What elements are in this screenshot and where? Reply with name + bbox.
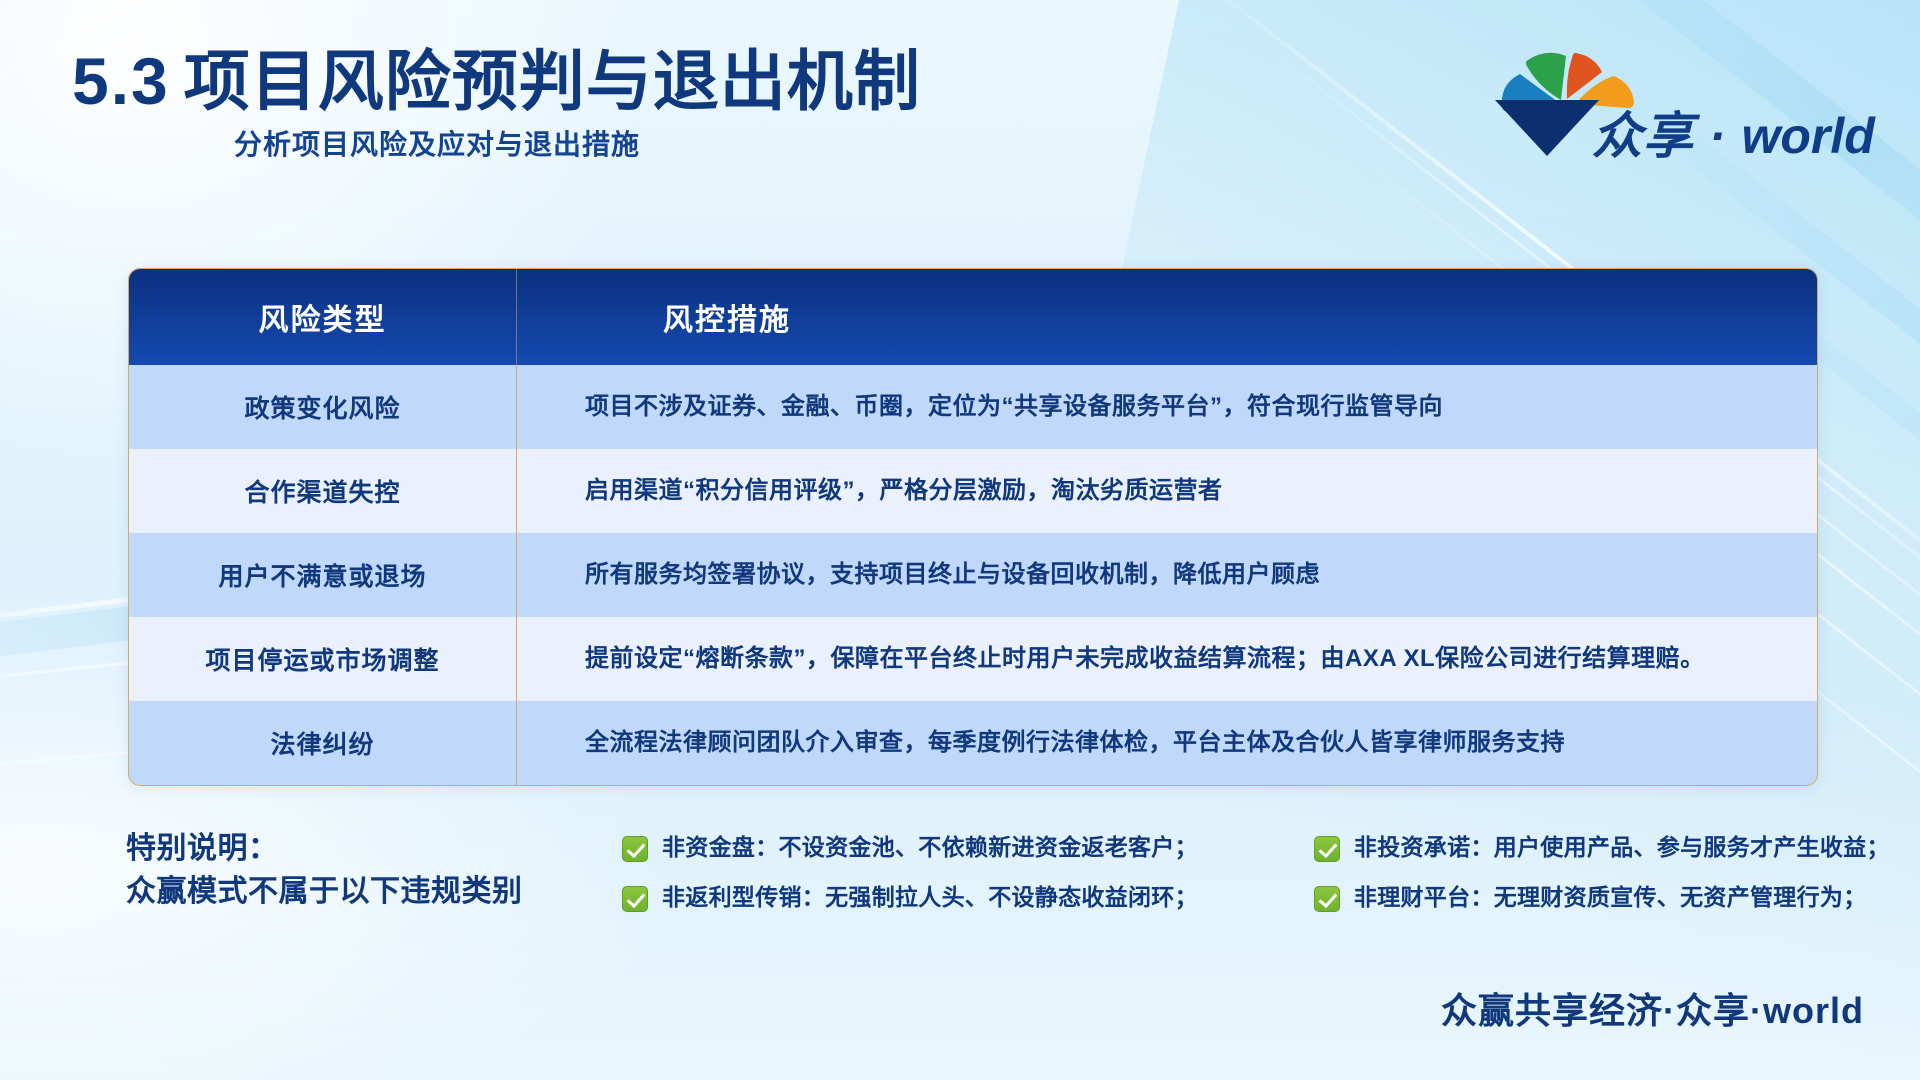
table-row: 政策变化风险 项目不涉及证券、金融、币圈，定位为“共享设备服务平台”，符合现行监… [129, 365, 1817, 449]
risk-table: 风险类型 风控措施 政策变化风险 项目不涉及证券、金融、币圈，定位为“共享设备服… [128, 268, 1818, 786]
list-item-label: 非资金盘：不设资金池、不依赖新进资金返老客户； [662, 834, 1198, 862]
cell-risk-type: 法律纠纷 [129, 701, 517, 785]
cell-risk-type: 合作渠道失控 [129, 449, 517, 533]
cell-control-measure: 提前设定“熔断条款”，保障在平台终止时用户未完成收益结算流程；由AXA XL保险… [517, 617, 1817, 701]
table-row: 法律纠纷 全流程法律顾问团队介入审查，每季度例行法律体检，平台主体及合伙人皆享律… [129, 701, 1817, 785]
table-row: 项目停运或市场调整 提前设定“熔断条款”，保障在平台终止时用户未完成收益结算流程… [129, 617, 1817, 701]
section-number: 5.3 [72, 44, 170, 118]
logo-brand-en: world [1741, 108, 1874, 164]
slide-header: 5.3项目风险预判与退出机制 分析项目风险及应对与退出措施 众享 · world [0, 0, 1920, 200]
table-row: 合作渠道失控 启用渠道“积分信用评级”，严格分层激励，淘汰劣质运营者 [129, 449, 1817, 533]
special-note-label-line1: 特别说明： [126, 828, 646, 871]
page-title: 5.3项目风险预判与退出机制 [72, 46, 921, 117]
compliance-column-left: 非资金盘：不设资金池、不依赖新进资金返老客户； 非返利型传销：无强制拉人头、不设… [622, 834, 1198, 912]
check-icon [1314, 886, 1340, 912]
brand-logo: 众享 · world [1474, 44, 1874, 166]
logo-brand-cn: 众享 [1592, 108, 1694, 164]
list-item-label: 非理财平台：无理财资质宣传、无资产管理行为； [1354, 884, 1867, 912]
cell-risk-type: 政策变化风险 [129, 365, 517, 449]
check-icon [1314, 836, 1340, 862]
list-item-label: 非返利型传销：无强制拉人头、不设静态收益闭环； [662, 884, 1198, 912]
check-icon [622, 836, 648, 862]
table-header-row: 风险类型 风控措施 [129, 269, 1817, 365]
special-note-section: 特别说明： 众赢模式不属于以下违规类别 非资金盘：不设资金池、不依赖新进资金返老… [126, 828, 1826, 958]
page-subtitle: 分析项目风险及应对与退出措施 [234, 123, 921, 163]
column-header-risk-type: 风险类型 [129, 269, 517, 365]
list-item: 非资金盘：不设资金池、不依赖新进资金返老客户； [622, 834, 1198, 862]
table-row: 用户不满意或退场 所有服务均签署协议，支持项目终止与设备回收机制，降低用户顾虑 [129, 533, 1817, 617]
list-item-label: 非投资承诺：用户使用产品、参与服务才产生收益； [1354, 834, 1890, 862]
logo-separator: · [1709, 108, 1727, 164]
list-item: 非返利型传销：无强制拉人头、不设静态收益闭环； [622, 884, 1198, 912]
cell-risk-type: 用户不满意或退场 [129, 533, 517, 617]
list-item: 非理财平台：无理财资质宣传、无资产管理行为； [1314, 884, 1890, 912]
cell-control-measure: 全流程法律顾问团队介入审查，每季度例行法律体检，平台主体及合伙人皆享律师服务支持 [517, 701, 1817, 785]
compliance-list: 非资金盘：不设资金池、不依赖新进资金返老客户； 非返利型传销：无强制拉人头、不设… [622, 834, 1890, 912]
cell-risk-type: 项目停运或市场调整 [129, 617, 517, 701]
compliance-column-right: 非投资承诺：用户使用产品、参与服务才产生收益； 非理财平台：无理财资质宣传、无资… [1314, 834, 1890, 912]
column-header-control-measure: 风控措施 [517, 269, 1817, 365]
special-note-label: 特别说明： 众赢模式不属于以下违规类别 [126, 828, 646, 913]
check-icon [622, 886, 648, 912]
cell-control-measure: 启用渠道“积分信用评级”，严格分层激励，淘汰劣质运营者 [517, 449, 1817, 533]
page-title-text: 项目风险预判与退出机制 [184, 44, 921, 118]
list-item: 非投资承诺：用户使用产品、参与服务才产生收益； [1314, 834, 1890, 862]
logo-triangle-icon [1492, 96, 1602, 158]
title-block: 5.3项目风险预判与退出机制 分析项目风险及应对与退出措施 [72, 46, 921, 163]
special-note-label-line2: 众赢模式不属于以下违规类别 [126, 871, 646, 914]
cell-control-measure: 所有服务均签署协议，支持项目终止与设备回收机制，降低用户顾虑 [517, 533, 1817, 617]
table-body: 政策变化风险 项目不涉及证券、金融、币圈，定位为“共享设备服务平台”，符合现行监… [129, 365, 1817, 785]
footer-brand-text: 众赢共享经济·众享·world [1441, 982, 1864, 1034]
logo-wordmark: 众享 · world [1592, 96, 1875, 168]
cell-control-measure: 项目不涉及证券、金融、币圈，定位为“共享设备服务平台”，符合现行监管导向 [517, 365, 1817, 449]
